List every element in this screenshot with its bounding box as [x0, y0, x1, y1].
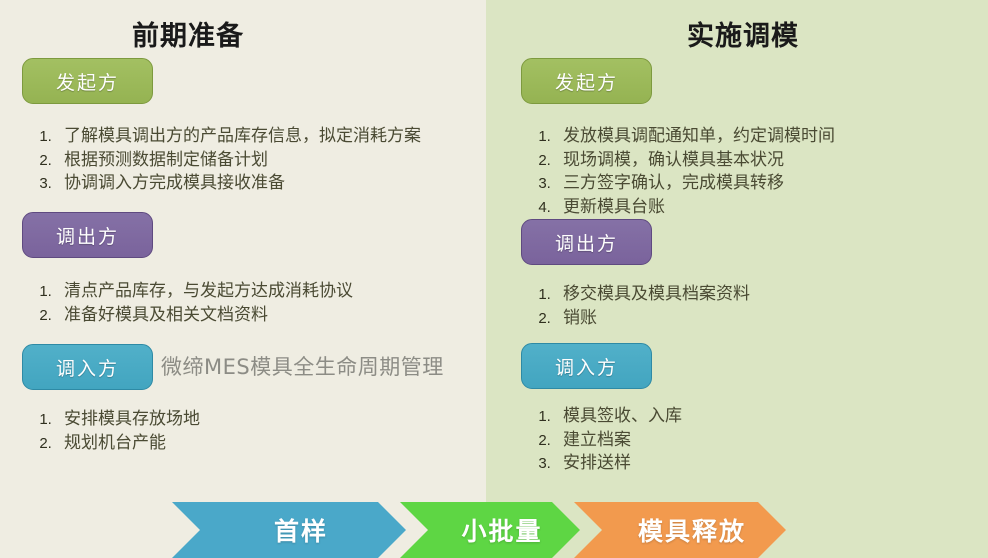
step-list-initiator-right: 发放模具调配通知单，约定调模时间 现场调模，确认模具基本状况 三方签字确认，完成…: [521, 125, 835, 219]
role-badge-label: 发起方: [555, 68, 618, 95]
step-list-transferor-left: 清点产品库存，与发起方达成消耗协议 准备好模具及相关文档资料: [22, 280, 353, 327]
list-item: 规划机台产能: [56, 432, 200, 456]
step-list-transferee-right: 模具签收、入库 建立档案 安排送样: [521, 405, 682, 476]
role-badge-label: 调出方: [555, 229, 618, 256]
stage-banner: 首样 小批量 模具释放: [172, 502, 786, 558]
stage-chevron-first-sample[interactable]: 首样: [172, 502, 406, 558]
role-badge-label: 发起方: [56, 68, 119, 95]
list-item: 建立档案: [555, 429, 682, 453]
step-list-transferee-left: 安排模具存放场地 规划机台产能: [22, 408, 200, 455]
page-title-left: 前期准备: [0, 14, 431, 53]
page-title-right: 实施调模: [492, 14, 988, 53]
list-item: 移交模具及模具档案资料: [555, 283, 750, 307]
stage-label: 首样: [274, 512, 328, 548]
list-item: 安排模具存放场地: [56, 408, 200, 432]
list-item: 清点产品库存，与发起方达成消耗协议: [56, 280, 353, 304]
step-list-transferor-right: 移交模具及模具档案资料 销账: [521, 283, 750, 330]
list-item: 三方签字确认，完成模具转移: [555, 172, 835, 196]
role-badge-transferor-right[interactable]: 调出方: [521, 219, 652, 265]
column-execution: 实施调模 发起方 发放模具调配通知单，约定调模时间 现场调模，确认模具基本状况 …: [486, 0, 988, 558]
list-item: 现场调模，确认模具基本状况: [555, 149, 835, 173]
list-item: 准备好模具及相关文档资料: [56, 304, 353, 328]
list-item: 销账: [555, 307, 750, 331]
role-badge-label: 调入方: [56, 354, 119, 381]
stage-chevron-small-batch[interactable]: 小批量: [400, 502, 580, 558]
list-item: 根据预测数据制定储备计划: [56, 149, 421, 173]
watermark-text: 微缔MES模具全生命周期管理: [161, 351, 444, 381]
role-badge-transferor-left[interactable]: 调出方: [22, 212, 153, 258]
stage-chevron-mold-release[interactable]: 模具释放: [574, 502, 786, 558]
role-badge-transferee-right[interactable]: 调入方: [521, 343, 652, 389]
step-list-initiator-left: 了解模具调出方的产品库存信息，拟定消耗方案 根据预测数据制定储备计划 协调调入方…: [22, 125, 421, 196]
role-badge-transferee-left[interactable]: 调入方: [22, 344, 153, 390]
role-badge-initiator-right[interactable]: 发起方: [521, 58, 652, 104]
role-badge-label: 调出方: [56, 222, 119, 249]
list-item: 了解模具调出方的产品库存信息，拟定消耗方案: [56, 125, 421, 149]
stage-label: 模具释放: [638, 512, 746, 548]
role-badge-initiator-left[interactable]: 发起方: [22, 58, 153, 104]
list-item: 更新模具台账: [555, 196, 835, 220]
list-item: 安排送样: [555, 452, 682, 476]
column-preparation: 前期准备 发起方 了解模具调出方的产品库存信息，拟定消耗方案 根据预测数据制定储…: [0, 0, 486, 558]
stage-label: 小批量: [461, 512, 542, 548]
list-item: 发放模具调配通知单，约定调模时间: [555, 125, 835, 149]
list-item: 模具签收、入库: [555, 405, 682, 429]
role-badge-label: 调入方: [555, 353, 618, 380]
slide-canvas: 前期准备 发起方 了解模具调出方的产品库存信息，拟定消耗方案 根据预测数据制定储…: [0, 0, 988, 558]
list-item: 协调调入方完成模具接收准备: [56, 172, 421, 196]
